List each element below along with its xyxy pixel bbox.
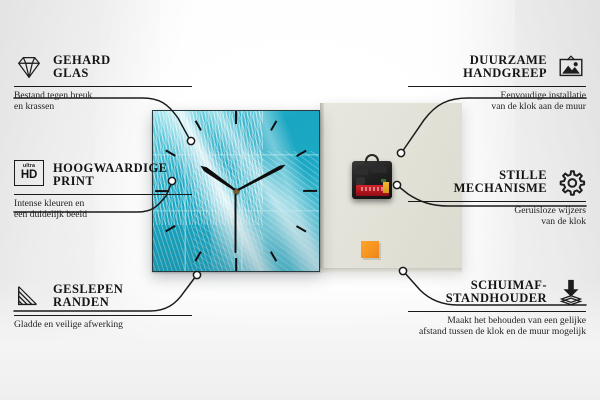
feature-description: Gladde en veilige afwerking xyxy=(14,319,192,330)
mechanism-detail xyxy=(356,177,365,185)
second-hand xyxy=(235,191,237,253)
feature-silent-mechanism: STILLE MECHANISME Geruisloze wijzers van… xyxy=(408,167,586,228)
diamond-icon xyxy=(14,52,44,82)
hour-tick xyxy=(270,120,277,130)
feature-description: Geruisloze wijzers van de klok xyxy=(408,205,586,228)
foam-spacer-arrow-icon xyxy=(556,277,586,307)
hour-tick xyxy=(195,251,202,261)
beveled-edge-icon xyxy=(14,281,44,311)
infographic-canvas: GEHARD GLAS Bestand tegen breuk en krass… xyxy=(0,0,600,400)
feature-divider xyxy=(408,86,586,87)
feature-divider xyxy=(14,315,192,316)
feature-print-quality: ultra HD HOOGWAARDIGE PRINT Intense kleu… xyxy=(14,160,192,221)
hour-tick xyxy=(165,225,175,232)
foam-spacer xyxy=(361,241,379,258)
hour-tick xyxy=(195,120,202,130)
back-panel-left-edge xyxy=(320,103,324,269)
gear-icon xyxy=(556,167,586,197)
feature-foam-spacer: SCHUIMAF- STANDHOUDER Maakt het behouden… xyxy=(408,277,586,338)
feature-description: Bestand tegen breuk en krassen xyxy=(14,90,192,113)
feature-description: Eenvoudige installatie van de klok aan d… xyxy=(408,90,586,113)
feature-divider xyxy=(408,311,586,312)
battery xyxy=(356,185,389,196)
clock-center-hub xyxy=(234,189,239,194)
hd-badge-big-text: HD xyxy=(21,170,37,182)
feature-tempered-glass: GEHARD GLAS Bestand tegen breuk en krass… xyxy=(14,52,192,113)
picture-frame-icon xyxy=(556,52,586,82)
feature-divider xyxy=(14,194,192,195)
hour-tick xyxy=(296,225,306,232)
battery-label xyxy=(361,187,385,191)
feature-title: GEHARD GLAS xyxy=(53,54,111,81)
back-panel-bottom-edge xyxy=(320,268,462,273)
hour-tick xyxy=(235,258,237,272)
feature-title: DUURZAME HANDGREEP xyxy=(463,54,547,81)
ultra-hd-badge-icon: ultra HD xyxy=(14,160,44,190)
feature-title: HOOGWAARDIGE PRINT xyxy=(53,162,167,189)
feature-polished-edges: GESLEPEN RANDEN Gladde en veilige afwerk… xyxy=(14,281,192,330)
feature-title: STILLE MECHANISME xyxy=(454,169,547,196)
battery-terminal xyxy=(383,182,389,193)
clock-mechanism xyxy=(352,161,392,199)
hour-tick xyxy=(296,150,306,157)
feature-divider xyxy=(408,201,586,202)
feature-durable-hanger: DUURZAME HANDGREEP Eenvoudige installati… xyxy=(408,52,586,113)
hanger-loop-icon xyxy=(365,154,379,163)
hour-tick xyxy=(165,150,175,157)
feature-title: SCHUIMAF- STANDHOUDER xyxy=(446,279,547,306)
mechanism-detail xyxy=(371,166,387,173)
hour-tick xyxy=(235,110,237,124)
minute-hand xyxy=(235,163,286,193)
hour-tick xyxy=(270,251,277,261)
hour-hand xyxy=(199,164,238,193)
feature-divider xyxy=(14,86,192,87)
mechanism-detail xyxy=(356,166,368,175)
hour-tick xyxy=(303,190,317,192)
feature-title: GESLEPEN RANDEN xyxy=(53,283,123,310)
feature-description: Intense kleuren en een duidelijk beeld xyxy=(14,198,192,221)
feature-description: Maakt het behouden van een gelijke afsta… xyxy=(408,315,586,338)
